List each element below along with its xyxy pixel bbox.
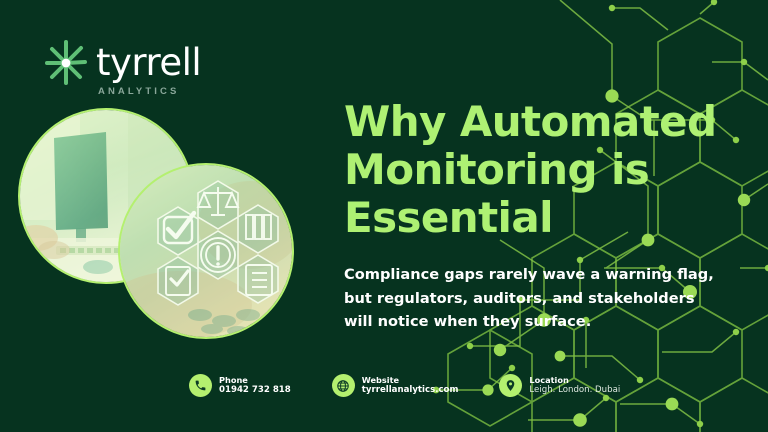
headline-line-1: Why Automated (344, 98, 754, 146)
social-graphic-canvas: tyrrell ANALYTICS (0, 0, 768, 432)
brand-subtitle: ANALYTICS (98, 86, 179, 97)
starburst-icon (40, 38, 92, 90)
headline-line-2: Monitoring is (344, 146, 754, 194)
page-title: Why Automated Monitoring is Essential (344, 98, 754, 242)
phone-icon (189, 374, 212, 397)
subhead-line-1: Compliance gaps rarely wave a warning fl… (344, 263, 724, 287)
contact-value: tyrrellanalytics.com (362, 385, 459, 396)
contact-phone[interactable]: Phone 01942 732 818 (189, 374, 291, 397)
headline-line-3: Essential (344, 194, 754, 242)
contact-website[interactable]: Website tyrrellanalytics.com (332, 374, 459, 397)
contact-bar: Phone 01942 732 818 Website tyrrellanaly… (189, 374, 620, 397)
contact-value: Leigh. London. Dubai (529, 385, 620, 396)
location-icon (499, 374, 522, 397)
subhead-line-2: but regulators, auditors, and stakeholde… (344, 287, 724, 311)
subhead-line-3: will notice when they surface. (344, 310, 724, 334)
contact-label: Phone (219, 375, 291, 385)
contact-label: Website (362, 375, 459, 385)
contact-location[interactable]: Location Leigh. London. Dubai (499, 374, 620, 397)
globe-icon (332, 374, 355, 397)
brand-name: tyrrell (96, 44, 230, 81)
green-tint-overlay (120, 165, 292, 337)
subheadline: Compliance gaps rarely wave a warning fl… (344, 263, 724, 334)
contact-value: 01942 732 818 (219, 385, 291, 396)
compliance-icons-photo (118, 163, 294, 339)
brand-logo[interactable]: tyrrell ANALYTICS (40, 36, 230, 112)
contact-label: Location (529, 375, 620, 385)
